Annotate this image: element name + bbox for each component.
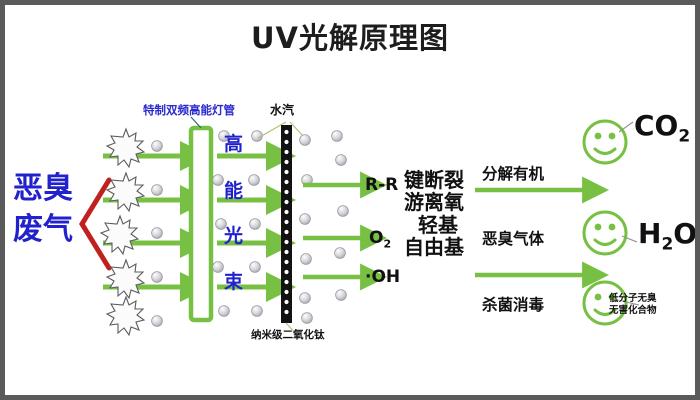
- intermediate-o2: O2: [369, 228, 391, 250]
- beam-char-2: 能: [224, 176, 243, 203]
- output-h2o: H2O: [638, 217, 695, 255]
- tio2-label: 纳米级二氧化钛: [251, 330, 325, 341]
- mechanism-line-4: 自由基: [404, 236, 464, 258]
- product-arrows: [303, 185, 361, 277]
- mechanism-line-2: 游离氧: [404, 191, 464, 213]
- output-co2: CO2: [634, 109, 690, 147]
- mechanism-line-3: 轻基: [404, 214, 464, 236]
- beam-char-4: 束: [224, 267, 243, 294]
- mechanism-line-1: 键断裂: [404, 169, 464, 191]
- smiley-leader-lines: [619, 122, 639, 305]
- beam-char-1: 高: [224, 129, 243, 156]
- water-droplet-icons-inlet: [152, 141, 163, 327]
- intermediate-rr: R-R: [365, 175, 398, 195]
- lamp-tube-label: 特制双频高能灯管: [143, 104, 235, 116]
- vapor-label: 水汽: [270, 104, 294, 117]
- mechanism-text: 键断裂 游离氧 轻基 自由基: [404, 169, 464, 259]
- harmless-note-line-2: 无害化合物: [609, 305, 657, 317]
- source-gas-line-2: 废气: [13, 210, 85, 251]
- diagram-frame: UV光解原理图: [5, 5, 695, 395]
- harmless-compound-note: 低分子无臭 无害化合物: [609, 293, 657, 317]
- intermediate-oh: ·OH: [365, 267, 400, 287]
- source-gas-label: 恶臭 废气: [13, 169, 85, 250]
- diagram-canvas: [5, 5, 695, 395]
- action-odorous-gas: 恶臭气体: [482, 227, 544, 249]
- tio2-plate-icon: [281, 125, 297, 335]
- lamp-tube-icon: [191, 117, 211, 320]
- pollutant-burst-icons: [101, 129, 144, 335]
- action-decompose-organic: 分解有机: [482, 162, 544, 184]
- beam-char-3: 光: [224, 221, 243, 248]
- action-sterilize: 杀菌消毒: [482, 293, 544, 315]
- water-droplet-icons-reaction: [300, 131, 349, 324]
- harmless-note-line-1: 低分子无臭: [609, 293, 657, 305]
- source-gas-line-1: 恶臭: [13, 169, 85, 210]
